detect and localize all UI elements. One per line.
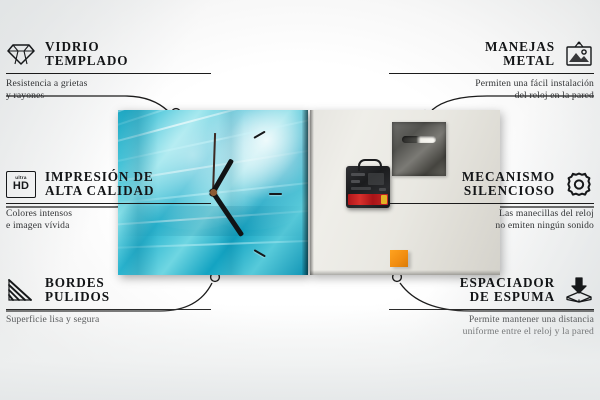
divider (389, 203, 594, 204)
gear-icon (564, 171, 594, 198)
metal-hanger-plate[interactable] (392, 122, 446, 176)
feature-vidrio-templado[interactable]: VIDRIO TEMPLADO Resistencia a grietas y … (6, 40, 211, 101)
feature-title: IMPRESIÓN DE ALTA CALIDAD (45, 170, 154, 199)
feature-description: Permite mantener una distancia uniforme … (389, 314, 594, 337)
feature-title: VIDRIO TEMPLADO (45, 40, 128, 69)
hanger-slot (402, 136, 436, 143)
diamond-icon (6, 41, 36, 68)
feature-mecanismo-silencioso[interactable]: MECANISMO SILENCIOSO Las manecillas del … (389, 170, 594, 231)
mechanism-hook (358, 159, 382, 171)
glass-edge-highlight (302, 110, 308, 275)
spacer-press-icon (564, 277, 594, 304)
divider (389, 73, 594, 74)
feature-manejas-metal[interactable]: MANEJAS METAL Permiten una fácil instala… (389, 40, 594, 101)
feature-description: Permiten una fácil instalación del reloj… (389, 78, 594, 101)
panel-left-edge (310, 110, 314, 275)
ultra-hd-icon: ultra HD (6, 171, 36, 198)
hour-marker (269, 193, 282, 195)
divider (6, 73, 211, 74)
feature-description: Resistencia a grietas y rayones (6, 78, 211, 101)
ultra-hd-large-label: HD (13, 181, 29, 192)
hour-marker (253, 130, 265, 139)
mechanism-chip (381, 195, 387, 204)
infographic-canvas: VIDRIO TEMPLADO Resistencia a grietas y … (0, 0, 600, 400)
feature-description: Las manecillas del reloj no emiten ningú… (389, 208, 594, 231)
foam-spacer[interactable] (390, 250, 408, 267)
feature-title: ESPACIADOR DE ESPUMA (460, 276, 555, 305)
feature-title: BORDES PULIDOS (45, 276, 110, 305)
divider (6, 309, 211, 310)
hour-marker (253, 249, 265, 258)
feature-title: MANEJAS METAL (485, 40, 555, 69)
feature-description: Superficie lisa y segura (6, 314, 211, 326)
divider (6, 203, 211, 204)
divider (389, 309, 594, 310)
quartz-mechanism[interactable] (346, 166, 390, 208)
polished-edge-icon (6, 277, 36, 304)
feature-description: Colores intensos e imagen vívida (6, 208, 211, 231)
feature-espaciador-espuma[interactable]: ESPACIADOR DE ESPUMA Permite mantener un… (389, 276, 594, 337)
picture-hanging-icon (564, 41, 594, 68)
feature-bordes-pulidos[interactable]: BORDES PULIDOS Superficie lisa y segura (6, 276, 211, 326)
feature-title: MECANISMO SILENCIOSO (462, 170, 555, 199)
feature-impresion-alta-calidad[interactable]: ultra HD IMPRESIÓN DE ALTA CALIDAD Color… (6, 170, 211, 231)
